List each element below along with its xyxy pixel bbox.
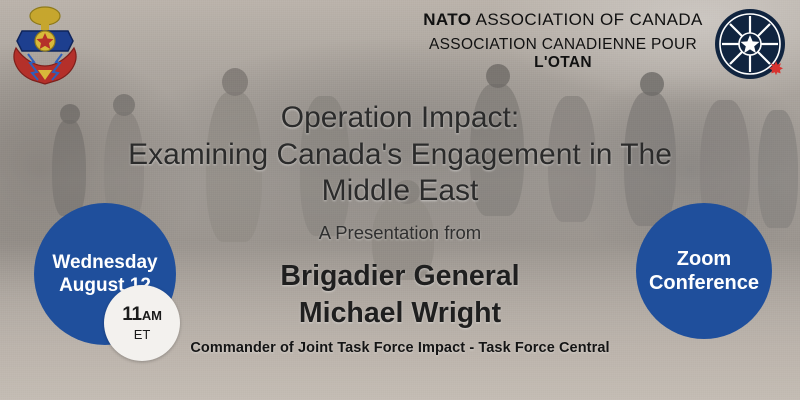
time-zone: ET	[134, 327, 151, 342]
time-badge: 11AM ET	[104, 285, 180, 361]
canadian-armed-forces-crest-icon	[8, 4, 82, 86]
date-weekday: Wednesday	[52, 251, 157, 274]
zoom-badge-line-1: Zoom	[677, 247, 731, 271]
nato-association-banner: NATO ASSOCIATION OF CANADA ASSOCIATION C…	[404, 6, 722, 74]
poster-title: Operation Impact: Examining Canada's Eng…	[50, 100, 750, 210]
banner-line-english: NATO ASSOCIATION OF CANADA	[404, 5, 722, 33]
title-line-1: Operation Impact:	[50, 100, 750, 137]
banner-line-french: ASSOCIATION CANADIENNE POUR L'OTAN	[404, 33, 722, 76]
zoom-badge-line-2: Conference	[649, 271, 759, 295]
speaker-rank: Brigadier General	[80, 258, 720, 295]
event-poster: NATO ASSOCIATION OF CANADA ASSOCIATION C…	[0, 0, 800, 400]
nato-star-roundel-icon	[714, 8, 786, 80]
banner-otan-word: L'OTAN	[534, 54, 592, 71]
banner-french-rest: ASSOCIATION CANADIENNE POUR	[429, 36, 697, 53]
time-meridiem: AM	[142, 308, 162, 323]
banner-nato-word: NATO	[423, 10, 471, 29]
presentation-label: A Presentation from	[100, 222, 700, 244]
title-line-2: Examining Canada's Engagement in The	[50, 137, 750, 174]
zoom-conference-badge: Zoom Conference	[636, 203, 772, 339]
banner-english-rest: ASSOCIATION OF CANADA	[471, 10, 702, 29]
title-line-3: Middle East	[50, 173, 750, 210]
time-hour: 11	[122, 304, 142, 325]
time-hour-row: 11AM	[122, 304, 162, 326]
